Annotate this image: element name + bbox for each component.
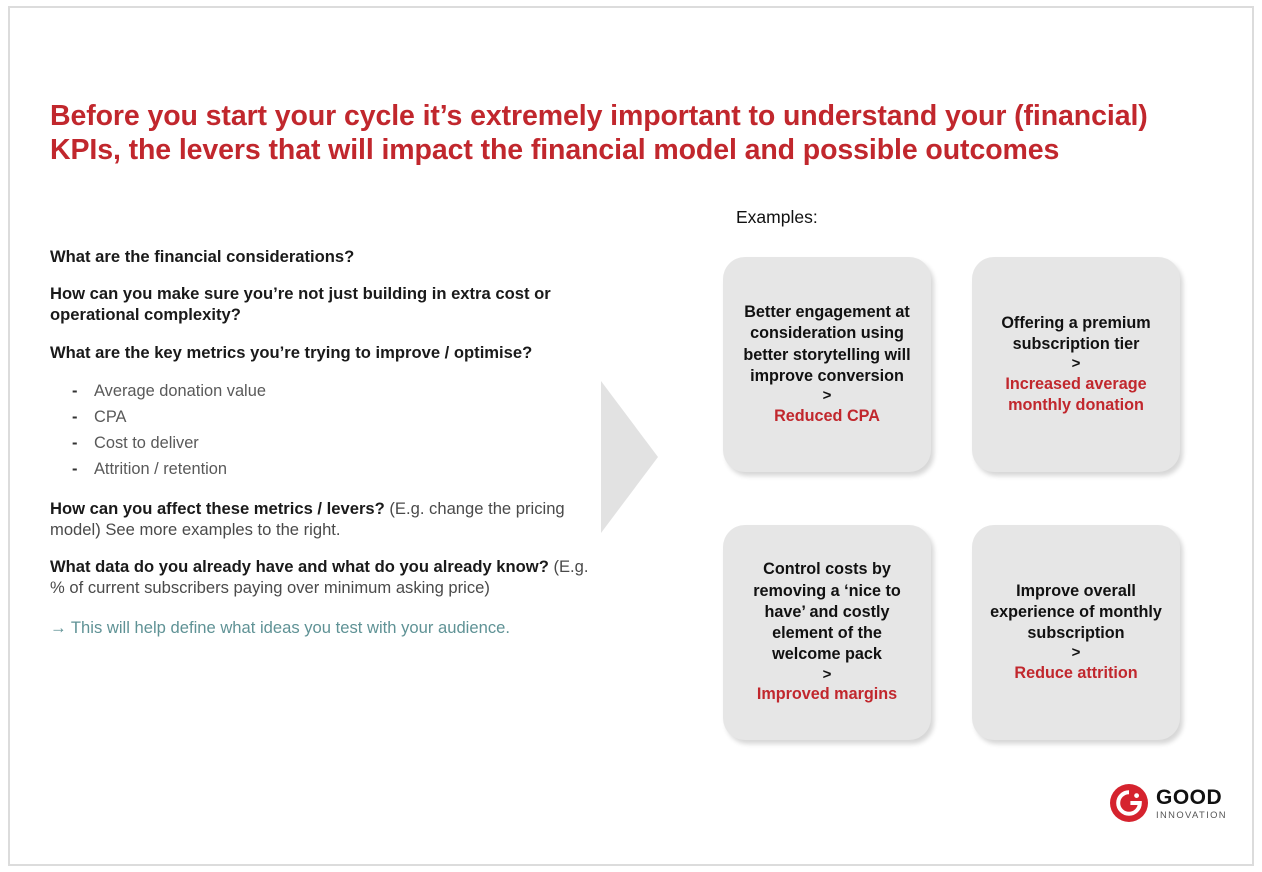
examples-card-grid: Better engagement at consideration using… bbox=[723, 257, 1188, 740]
question-financial-considerations: What are the financial considerations? bbox=[50, 246, 595, 267]
list-item-label: Attrition / retention bbox=[94, 457, 227, 483]
list-item: - Attrition / retention bbox=[50, 457, 595, 483]
brand-name-secondary: INNOVATION bbox=[1156, 810, 1227, 819]
list-item-label: Cost to deliver bbox=[94, 431, 199, 457]
question-extra-cost: How can you make sure you’re not just bu… bbox=[50, 283, 595, 325]
list-item: - CPA bbox=[50, 405, 595, 431]
example-card-result: Reduced CPA bbox=[774, 406, 880, 427]
example-card-body: Control costs by removing a ‘nice to hav… bbox=[737, 559, 917, 665]
list-item: - Average donation value bbox=[50, 379, 595, 405]
example-card-body: Better engagement at consideration using… bbox=[737, 302, 917, 387]
example-card-reduced-cpa: Better engagement at consideration using… bbox=[723, 257, 931, 472]
example-card-improved-margins: Control costs by removing a ‘nice to hav… bbox=[723, 525, 931, 740]
left-content-column: What are the financial considerations? H… bbox=[50, 246, 595, 638]
example-card-separator: > bbox=[1072, 355, 1081, 374]
bullet-dash: - bbox=[50, 405, 94, 431]
bullet-dash: - bbox=[50, 379, 94, 405]
list-item: - Cost to deliver bbox=[50, 431, 595, 457]
example-card-body: Offering a premium subscription tier bbox=[986, 313, 1166, 355]
question-existing-data: What data do you already have and what d… bbox=[50, 556, 595, 598]
question-affect-metrics: How can you affect these metrics / lever… bbox=[50, 498, 595, 540]
brand-logo-text: GOOD INNOVATION bbox=[1156, 787, 1227, 819]
brand-name-primary: GOOD bbox=[1156, 787, 1227, 808]
bullet-dash: - bbox=[50, 431, 94, 457]
examples-label: Examples: bbox=[736, 207, 818, 228]
example-card-result: Improved margins bbox=[757, 684, 897, 705]
question-key-metrics: What are the key metrics you’re trying t… bbox=[50, 342, 595, 363]
example-card-body: Improve overall experience of monthly su… bbox=[986, 581, 1166, 645]
example-card-increased-average-monthly-donation: Offering a premium subscription tier > I… bbox=[972, 257, 1180, 472]
example-card-result: Reduce attrition bbox=[1014, 663, 1137, 684]
slide: Before you start your cycle it’s extreme… bbox=[0, 0, 1262, 872]
good-innovation-circle-icon bbox=[1110, 784, 1148, 822]
metrics-bullet-list: - Average donation value - CPA - Cost to… bbox=[50, 379, 595, 483]
right-arrow-icon bbox=[601, 381, 658, 533]
outcome-callout: → This will help define what ideas you t… bbox=[50, 617, 595, 638]
example-card-separator: > bbox=[823, 666, 832, 685]
example-card-separator: > bbox=[1072, 644, 1081, 663]
example-card-reduce-attrition: Improve overall experience of monthly su… bbox=[972, 525, 1180, 740]
question-existing-data-bold: What data do you already have and what d… bbox=[50, 557, 549, 576]
bullet-dash: - bbox=[50, 457, 94, 483]
example-card-result: Increased average monthly donation bbox=[986, 374, 1166, 416]
list-item-label: Average donation value bbox=[94, 379, 266, 405]
question-affect-metrics-bold: How can you affect these metrics / lever… bbox=[50, 499, 385, 518]
example-card-separator: > bbox=[823, 387, 832, 406]
list-item-label: CPA bbox=[94, 405, 127, 431]
brand-logo: GOOD INNOVATION bbox=[1110, 784, 1227, 822]
page-title: Before you start your cycle it’s extreme… bbox=[50, 100, 1160, 167]
